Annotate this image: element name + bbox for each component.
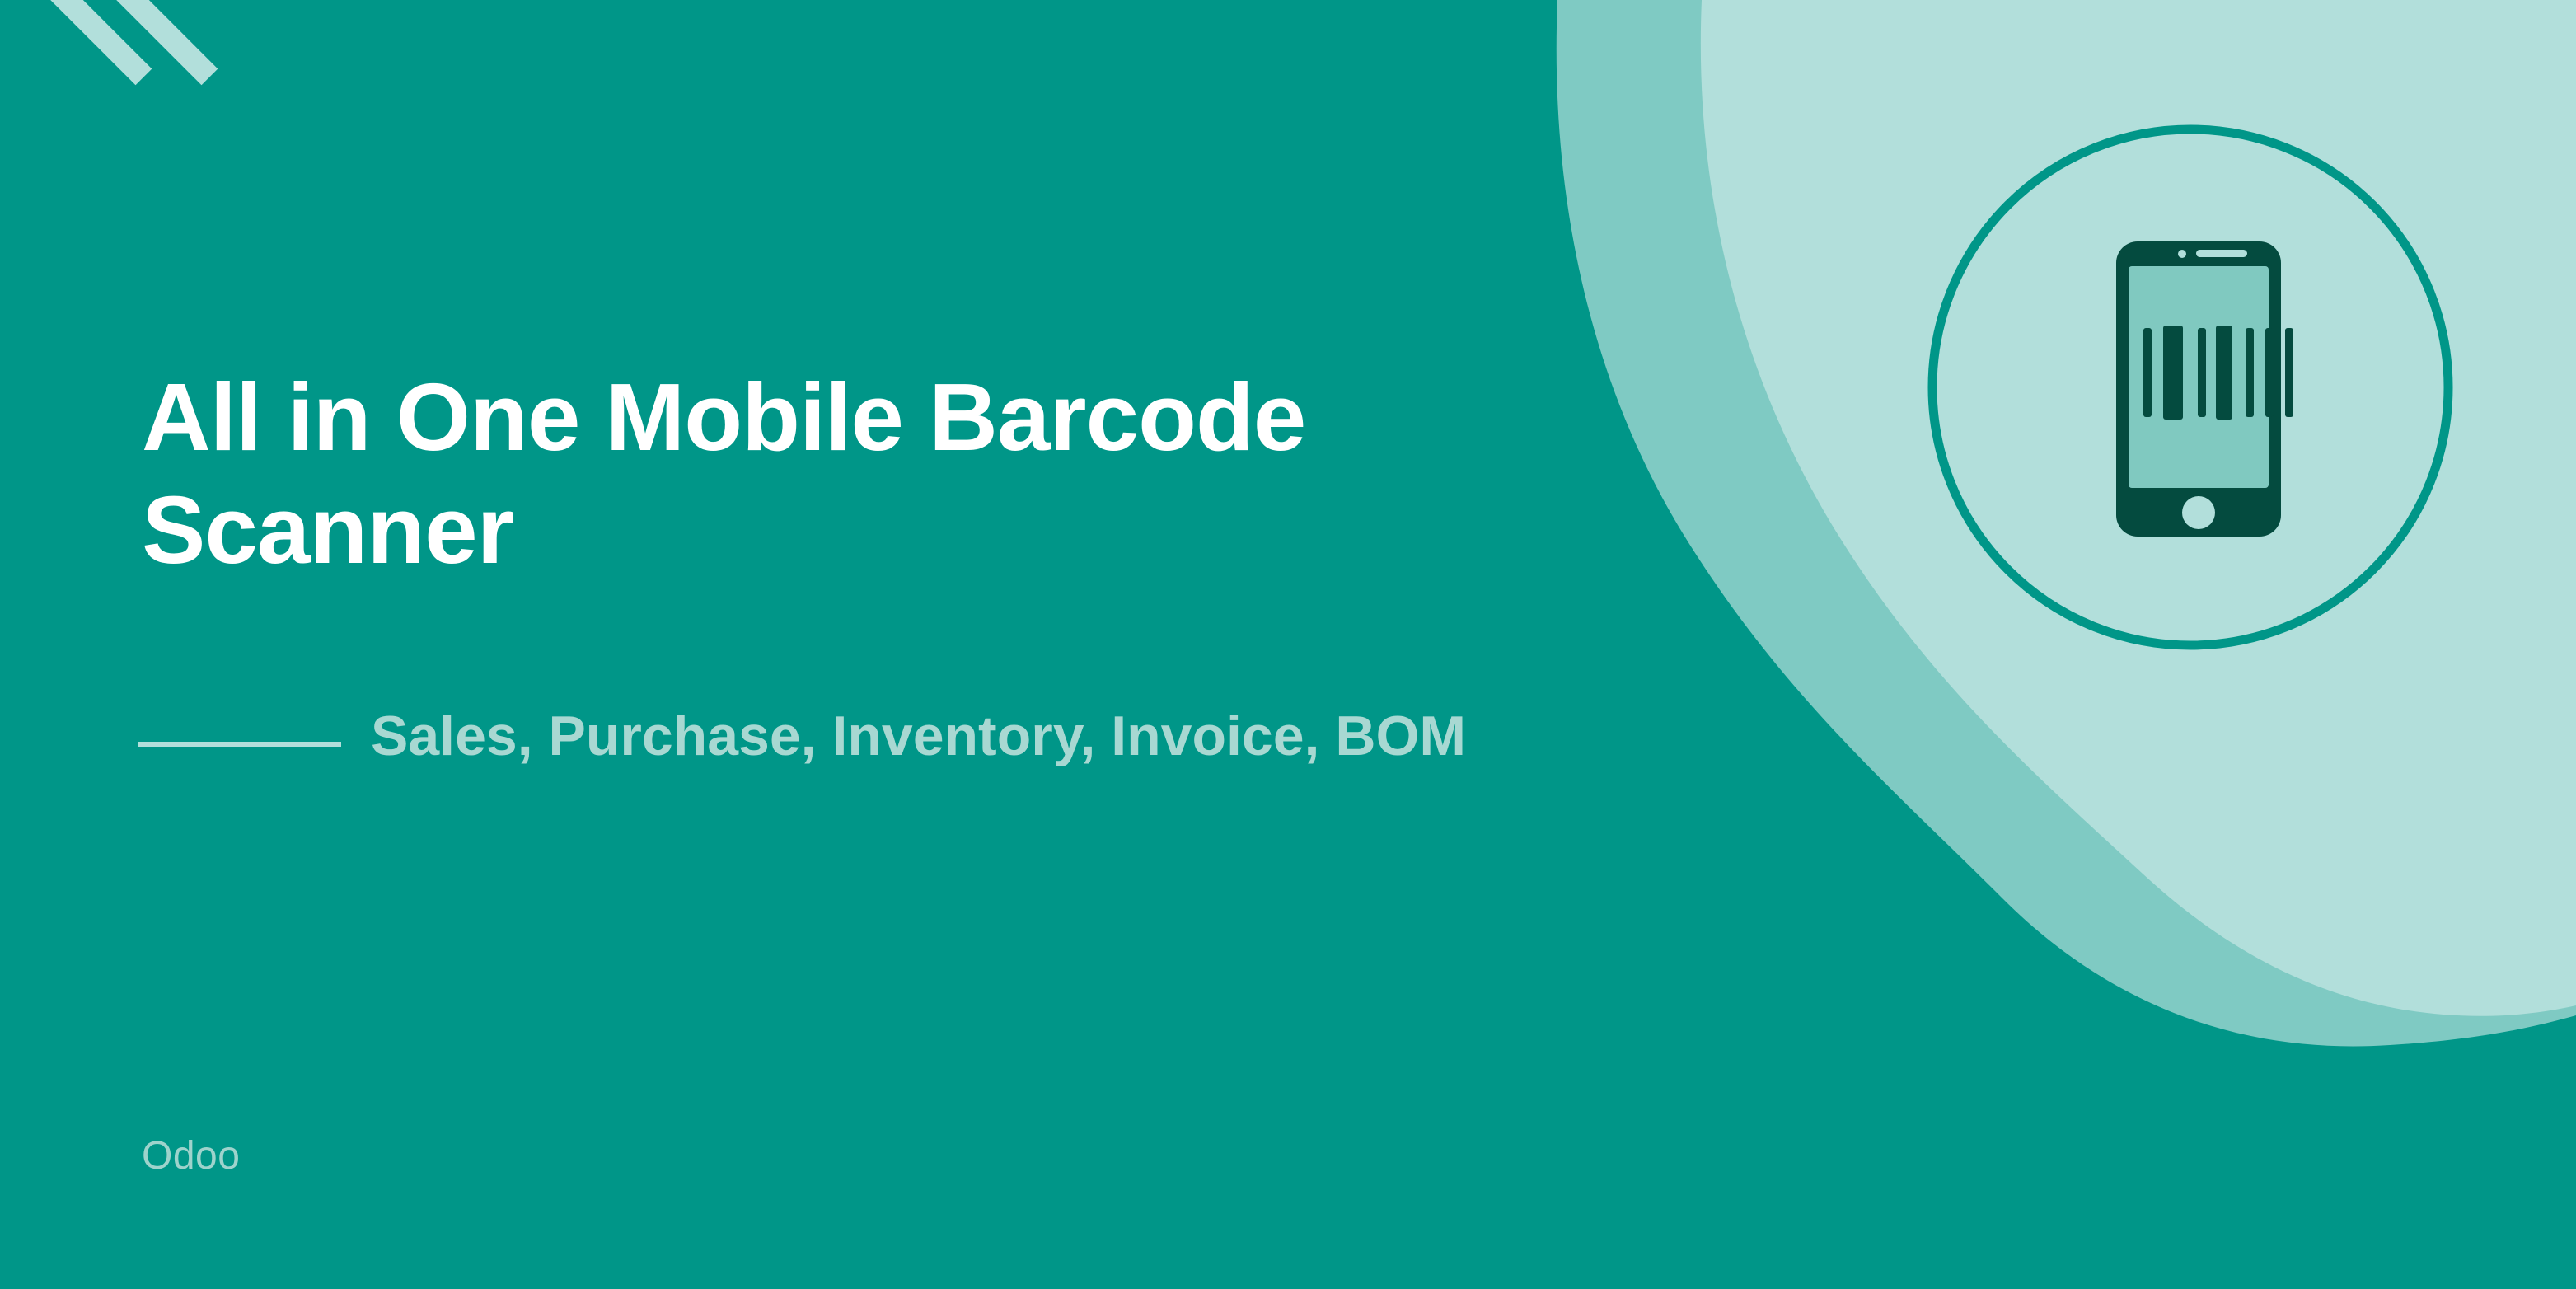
page-subtitle: Sales, Purchase, Inventory, Invoice, BOM [371, 702, 1466, 771]
smartphone-camera-dot [2178, 250, 2186, 258]
barcode-bar [2265, 328, 2274, 417]
subtitle-block: Sales, Purchase, Inventory, Invoice, BOM [138, 702, 1704, 771]
slide-canvas: All in One Mobile Barcode Scanner Sales,… [0, 0, 2576, 1289]
smartphone-speaker [2196, 250, 2247, 257]
page-title: All in One Mobile Barcode Scanner [142, 361, 1707, 587]
barcode-bar [2198, 328, 2206, 417]
footer-brand-label: Odoo [142, 1133, 240, 1179]
barcode-bar [2143, 328, 2152, 417]
barcode-bar [2246, 328, 2254, 417]
smartphone-home-button [2182, 496, 2215, 529]
barcode-bar [2285, 328, 2293, 417]
barcode-bar [2163, 326, 2183, 420]
headline-block: All in One Mobile Barcode Scanner [142, 361, 1707, 587]
barcode-display [2143, 326, 2293, 420]
background-decoration [0, 0, 2576, 1289]
subtitle-dash-rule [138, 742, 341, 747]
barcode-bar [2216, 326, 2232, 420]
